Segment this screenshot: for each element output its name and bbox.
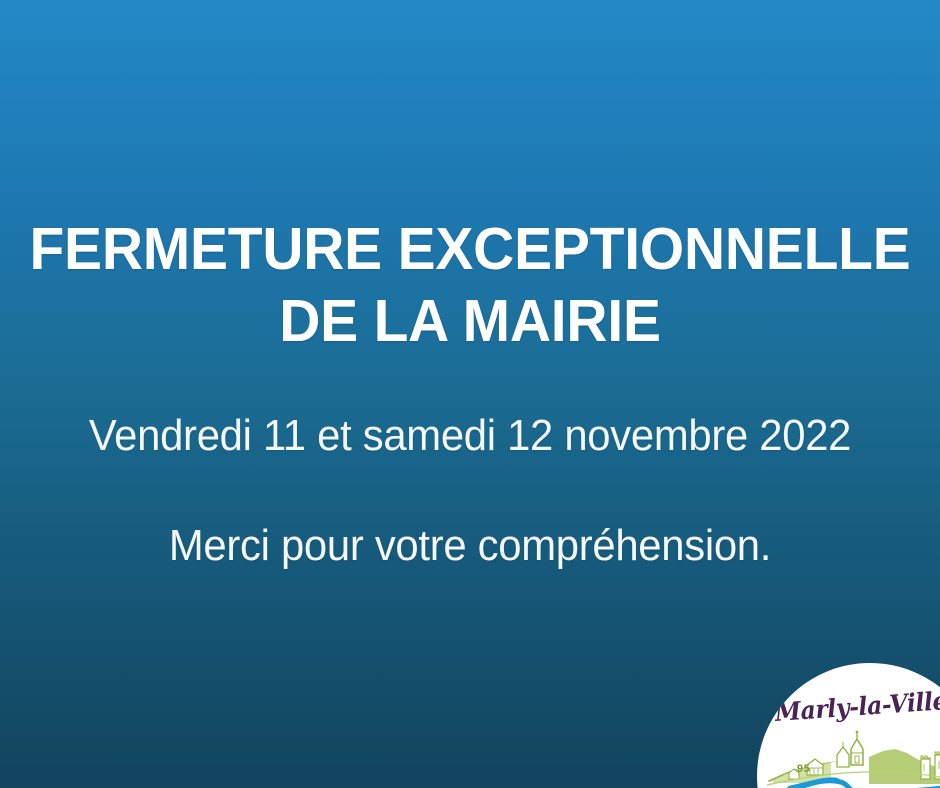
logo-inner: Marly-la-Ville	[757, 663, 940, 788]
thanks-text: Merci pour votre compréhension.	[24, 518, 917, 574]
headline-line-1: FERMETURE EXCEPTIONNELLE	[16, 213, 923, 285]
logo-department-number: 95	[797, 763, 810, 775]
closure-dates-text: Vendredi 11 et samedi 12 novembre 2022	[24, 408, 917, 464]
marly-la-ville-logo: Marly-la-Ville	[757, 663, 940, 788]
poster-canvas: FERMETURE EXCEPTIONNELLE DE LA MAIRIE Ve…	[0, 0, 940, 788]
village-skyline-illustration	[765, 727, 940, 788]
headline-line-2: DE LA MAIRIE	[16, 285, 923, 357]
